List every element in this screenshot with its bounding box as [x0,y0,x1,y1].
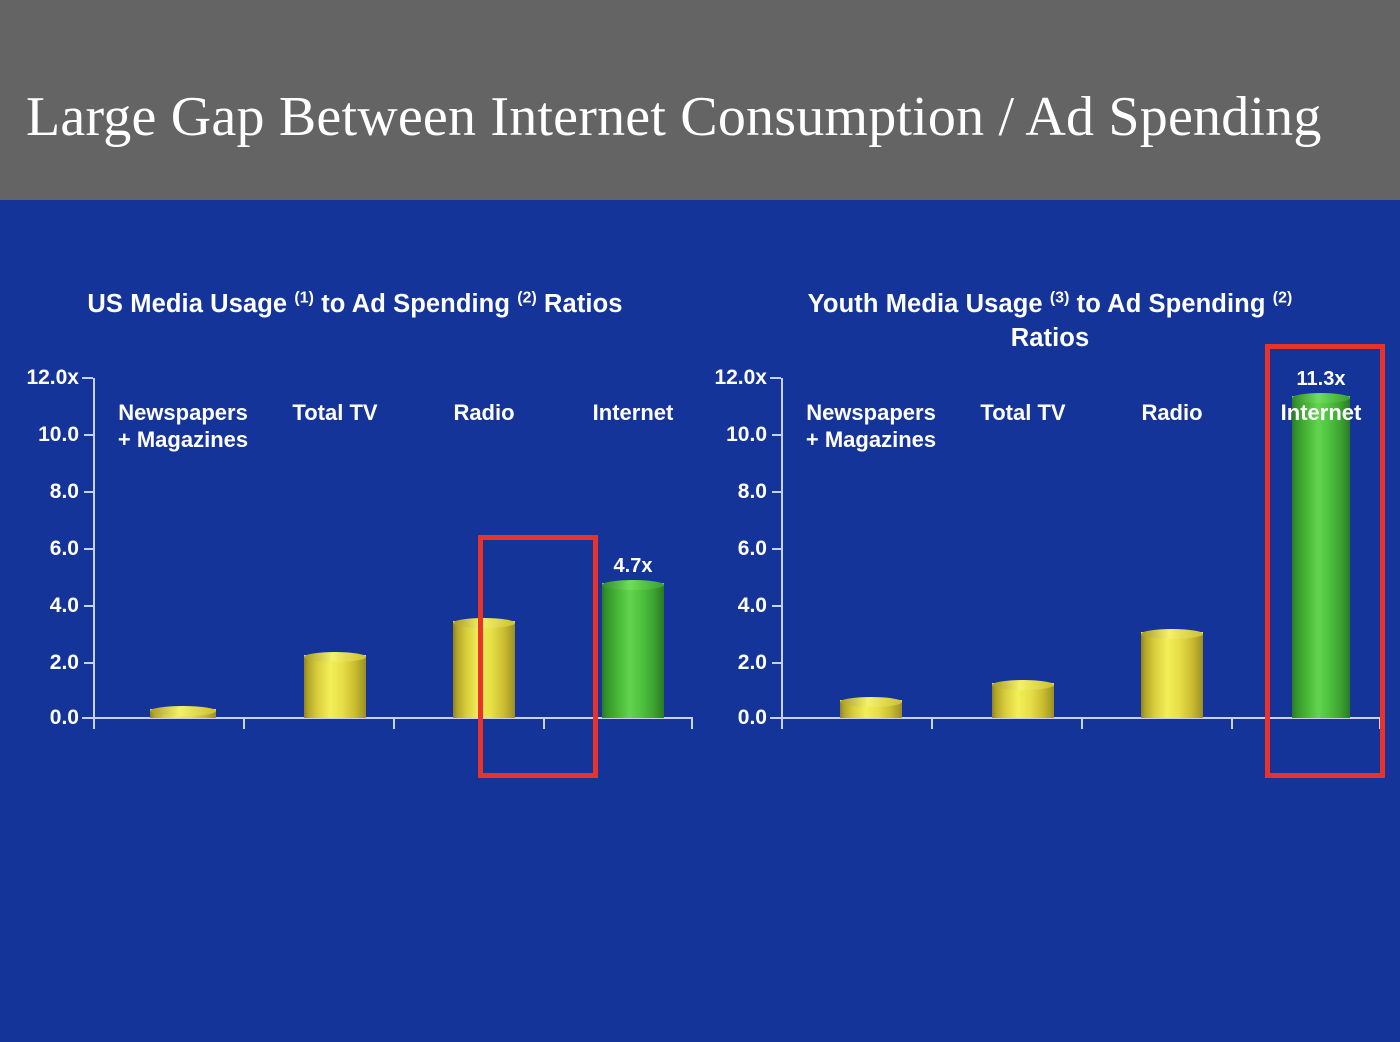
y-tick-8 [772,491,781,493]
bar-radio [1141,634,1203,718]
y-tick-0 [770,717,781,719]
category-label-newspapers-magazines: Newspapers+ Magazines [83,400,283,454]
chart-title-text-c: Ratios [537,290,623,318]
category-label-radio: Radio [1141,400,1202,427]
category-label-total-tv: Total TV [292,400,377,427]
category-label-internet: Internet [1281,400,1362,427]
bar-newspapers-magazines [840,702,902,718]
bar-top-cap [840,697,902,707]
y-tick-2 [772,662,781,664]
slide-body: US Media Usage (1) to Ad Spending (2) Ra… [0,200,1400,1042]
y-tick-6 [772,548,781,550]
y-tick-0 [82,717,93,719]
y-tick-label-4: 4.0 [50,594,79,618]
y-tick-label-6: 6.0 [50,537,79,561]
bar-internet: 4.7x [602,585,664,718]
y-tick-label-0: 0.0 [50,706,79,730]
y-tick-label-10: 10.0 [38,423,79,447]
bar-internet: 11.3x [1292,398,1350,718]
chart-title-text-b: to Ad Spending [314,290,517,318]
bar-top-cap [304,652,366,662]
x-tick-0 [781,718,783,729]
y-tick-label-6: 6.0 [738,537,767,561]
chart-title-us-media-usage: US Media Usage (1) to Ad Spending (2) Ra… [0,288,710,322]
bar-newspapers-magazines [150,711,216,718]
x-tick-1 [243,718,245,729]
bar-top-cap [1141,629,1203,639]
category-label-radio: Radio [453,400,514,427]
y-tick-label-10: 10.0 [726,423,767,447]
y-tick-label-4: 4.0 [738,594,767,618]
y-tick-12 [770,377,781,379]
slide-title: Large Gap Between Internet Consumption /… [26,88,1386,147]
slide-header-band: Large Gap Between Internet Consumption /… [0,0,1400,200]
chart-title-text-a: US Media Usage [87,290,294,318]
y-tick-label-12: 12.0x [714,366,767,390]
y-tick-4 [84,605,93,607]
x-tick-3 [543,718,545,729]
x-tick-1 [931,718,933,729]
category-label-total-tv: Total TV [980,400,1065,427]
bar-top-cap [602,580,664,590]
x-tick-0 [93,718,95,729]
y-tick-12 [82,377,93,379]
bar-body [1292,396,1350,718]
y-tick-label-12: 12.0x [26,366,79,390]
chart-title-text-c: Ratios [1011,324,1090,352]
plot-area-us-media-usage: 12.0x 10.0 8.0 6.0 4.0 2.0 0.0 [93,378,693,718]
y-tick-label-0: 0.0 [738,706,767,730]
bar-body [1141,632,1203,718]
chart-title-youth-media-usage: Youth Media Usage (3) to Ad Spending (2)… [700,288,1400,355]
x-tick-2 [1081,718,1083,729]
bar-top-cap [150,706,216,716]
y-tick-2 [84,662,93,664]
bar-value-label-internet: 11.3x [1297,368,1346,391]
bar-top-cap [992,680,1054,690]
y-tick-label-2: 2.0 [738,651,767,675]
x-tick-4 [1379,718,1381,729]
y-tick-label-8: 8.0 [50,480,79,504]
y-tick-6 [84,548,93,550]
bar-body [602,583,664,718]
x-tick-3 [1231,718,1233,729]
footnote-marker-2: (2) [517,290,537,307]
category-label-internet: Internet [593,400,674,427]
chart-title-text-b: to Ad Spending [1069,290,1272,318]
bar-total-tv [304,657,366,718]
bar-body [304,655,366,718]
y-tick-8 [84,491,93,493]
bar-top-cap [453,618,515,628]
plot-area-youth-media-usage: 12.0x 10.0 8.0 6.0 4.0 2.0 0.0 [781,378,1381,718]
bar-body [453,621,515,718]
footnote-marker-1: (1) [294,290,314,307]
slide: Large Gap Between Internet Consumption /… [0,0,1400,1042]
x-tick-4 [691,718,693,729]
bar-total-tv [992,685,1054,718]
category-label-newspapers-magazines: Newspapers+ Magazines [771,400,971,454]
bar-value-label-internet: 4.7x [614,555,653,578]
bar-radio [453,623,515,718]
y-tick-label-2: 2.0 [50,651,79,675]
footnote-marker-3: (3) [1050,290,1070,307]
x-tick-2 [393,718,395,729]
y-tick-4 [772,605,781,607]
footnote-marker-2b: (2) [1273,290,1293,307]
chart-title-text-a: Youth Media Usage [808,290,1050,318]
y-tick-label-8: 8.0 [738,480,767,504]
